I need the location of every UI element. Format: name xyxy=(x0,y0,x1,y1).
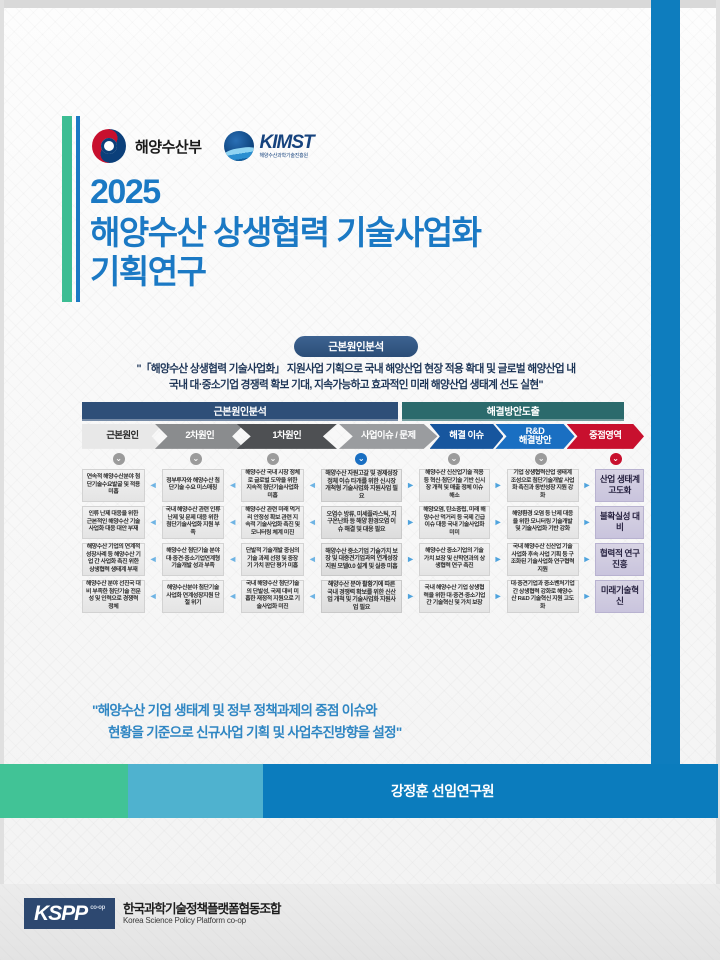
kspp-logo-text: KSPP xyxy=(34,903,87,924)
right-blue-accent-bar xyxy=(651,0,680,764)
arrow-left-icon: ◄ xyxy=(149,543,158,576)
cell-root-cause-1[interactable]: 연속적 해양수산분야 첨단기술수요발굴 및 적용 미흡 xyxy=(82,469,145,502)
arrow-left-icon: ◄ xyxy=(149,580,158,613)
diagram-lead-quote: "「해양수산 상생협력 기술사업화」 지원사업 기획으로 국내 해양산업 현장 … xyxy=(74,361,638,394)
cell-rnd-solution-1[interactable]: 기업 상생협력산업 생태계 조성으로 첨단기술개발 사업화 촉진과 동반성장 지… xyxy=(507,469,579,502)
column-solution-issue: 해양수산 신산업기술 적용 등 혁신·첨단기술 기반 신시장 개척 및 매출 정… xyxy=(419,469,489,613)
arrow-right-icon: ► xyxy=(583,543,592,576)
column-header-secondary-cause[interactable]: 2차원인 xyxy=(155,424,245,449)
arrow-left-icon: ◄ xyxy=(228,506,237,539)
chevron-down-circle-gray-icon: ⌄ xyxy=(267,453,279,465)
arrow-left-icon: ◄ xyxy=(149,506,158,539)
column-header-root-cause-label: 근본원인 xyxy=(104,431,140,441)
cell-focus-area-4[interactable]: 미래기술혁신 xyxy=(595,580,644,613)
chevron-down-circle-red-icon: ⌄ xyxy=(610,453,622,465)
conclusion-quote: "해양수산 기업 생태계 및 정부 정책과제의 중점 이슈와 현황을 기준으로 … xyxy=(92,700,612,743)
arrow-left-icon: ◄ xyxy=(228,543,237,576)
arrow-left-icon: ◄ xyxy=(149,469,158,502)
footer-org-text: 한국과학기술정책플랫폼협동조합 Korea Science Policy Pla… xyxy=(123,902,281,926)
diagram-matrix: 연속적 해양수산분야 첨단기술수요발굴 및 적용 미흡 인류 난제 대응을 위한… xyxy=(82,469,644,613)
column-header-solution-issue[interactable]: 해결 이슈 xyxy=(430,424,504,449)
arrow-column-6: ► ► ► ► xyxy=(583,469,592,613)
presenter-name: 강정훈 선임연구원 xyxy=(391,781,494,801)
title-accent-bar-blue xyxy=(76,116,80,302)
column-rnd-solution: 기업 상생협력산업 생태계 조성으로 첨단기술개발 사업화 촉진과 동반성장 지… xyxy=(507,469,579,613)
chevron-down-circle-gray-icon: ⌄ xyxy=(190,453,202,465)
icon-cell-7: ⌄ xyxy=(587,453,644,466)
column-header-rnd-solution[interactable]: R&D해결방안 xyxy=(495,424,574,449)
presenter-bar: 강정훈 선임연구원 xyxy=(0,764,718,818)
arrow-column-4: ► ► ► ► xyxy=(406,469,415,613)
agency-logo: KIMST 해양수산과학기술진흥원 xyxy=(224,131,314,161)
kspp-logo-mark: KSPP co-op xyxy=(24,898,115,929)
footer-org-ko: 한국과학기술정책플랫폼협동조합 xyxy=(123,902,281,916)
arrow-right-icon: ► xyxy=(494,469,503,502)
title-year: 2025 xyxy=(90,172,650,213)
column-header-root-cause[interactable]: 근본원인 xyxy=(82,424,163,449)
cell-solution-issue-3[interactable]: 해양수산 중소기업의 기술가치 보장 및 산학연과의 상생협력 연구 촉진 xyxy=(419,543,489,576)
cell-root-cause-3[interactable]: 해양수산 기업의 연계적 성장사례 등 해양수산 기업 간 사업화 촉진 위한 … xyxy=(82,543,145,576)
page-title: 2025 해양수산 상생협력 기술사업화 기획연구 xyxy=(90,172,650,292)
cell-focus-area-2[interactable]: 불확실성 대비 xyxy=(595,506,644,539)
column-header-rnd-solution-label: R&D해결방안 xyxy=(515,427,555,447)
frame-left-edge xyxy=(0,0,4,884)
band-solution-derivation: 해결방안도출 xyxy=(402,402,624,421)
cell-business-issue-2[interactable]: 오염수 방류, 미세플라스틱, 지구온난화 등 해양 환경오염 이슈 해결 및 … xyxy=(321,506,402,539)
icon-cell-1: ⌄ xyxy=(82,453,155,466)
cell-rnd-solution-3[interactable]: 국내 해양수산 신산업 기술사업화 후속 사업 기획 등 구조화된 기술사업화 … xyxy=(507,543,579,576)
frame-top-edge xyxy=(0,0,720,8)
diagram-badge-wrap: 근본원인분석 xyxy=(68,336,644,357)
taegeuk-icon xyxy=(92,129,126,163)
cell-solution-issue-1[interactable]: 해양수산 신산업기술 적용 등 혁신·첨단기술 기반 신시장 개척 및 매출 정… xyxy=(419,469,489,502)
cell-primary-cause-4[interactable]: 국내 해양수산 첨단기술의 단발성, 국제 대비 미흡한 재정적 지원으로 기술… xyxy=(241,580,304,613)
cell-solution-issue-2[interactable]: 해양오염, 탄소중립, 미래 해양수산 먹거리 등 국제 긴급 이슈 대응 국내… xyxy=(419,506,489,539)
arrow-right-icon: ► xyxy=(406,469,415,502)
column-header-focus-area-label: 중점영역 xyxy=(587,431,623,441)
column-focus-area: 산업 생태계 고도화 불확실성 대비 협력적 연구진흥 미래기술혁신 xyxy=(595,469,644,613)
footer-logo: KSPP co-op 한국과학기술정책플랫폼협동조합 Korea Science… xyxy=(24,898,281,929)
arrow-right-icon: ► xyxy=(494,580,503,613)
arrow-column-5: ► ► ► ► xyxy=(494,469,503,613)
lead-quote-line-1: "「해양수산 상생협력 기술사업화」 지원사업 기획으로 국내 해양산업 현장 … xyxy=(74,361,638,377)
column-primary-cause: 해양수산 국내 시장 정체로 글로벌 도약을 위한 지속적 첨단기술사업화 미흡… xyxy=(241,469,304,613)
agency-sublabel: 해양수산과학기술진흥원 xyxy=(260,154,314,159)
arrow-column-2: ◄ ◄ ◄ ◄ xyxy=(228,469,237,613)
column-header-secondary-cause-label: 2차원인 xyxy=(183,431,216,441)
conclusion-quote-line-1: "해양수산 기업 생태계 및 정부 정책과제의 중점 이슈와 xyxy=(92,703,377,718)
conclusion-quote-line-2: 현황을 기준으로 신규사업 기획 및 사업추진방향을 설정" xyxy=(92,722,612,744)
cell-business-issue-1[interactable]: 해양수산 자원고갈 및 경제성장 정체 이슈 타개를 위한 신시장개척형 기술사… xyxy=(321,469,402,502)
cell-business-issue-3[interactable]: 해양수산 중소기업 기술가치 보장 및 대중견기업과의 연계성장지원 모델0.0… xyxy=(321,543,402,576)
chevron-down-circle-gray-icon: ⌄ xyxy=(448,453,460,465)
arrow-left-icon: ◄ xyxy=(228,469,237,502)
arrow-left-icon: ◄ xyxy=(308,543,317,576)
cell-root-cause-4[interactable]: 해양수산 분야 선진국 대비 부족한 첨단기술 전문성 및 인력으로 경쟁력 정… xyxy=(82,580,145,613)
cell-rnd-solution-4[interactable]: 대·중견기업과 중소벤처기업 간 상생협력 강화로 해양수산 R&D 기술혁신 … xyxy=(507,580,579,613)
presenter-bar-green-segment xyxy=(0,764,128,818)
chevron-down-circle-gray-icon: ⌄ xyxy=(535,453,547,465)
arrow-left-icon: ◄ xyxy=(308,580,317,613)
kimst-wave-icon xyxy=(224,131,254,161)
title-line-2: 기획연구 xyxy=(90,252,650,292)
column-root-cause: 연속적 해양수산분야 첨단기술수요발굴 및 적용 미흡 인류 난제 대응을 위한… xyxy=(82,469,145,613)
cell-secondary-cause-1[interactable]: 정부투자와 해양수산 첨단기술 수요 미스매칭 xyxy=(162,469,225,502)
arrow-right-icon: ► xyxy=(583,580,592,613)
cell-root-cause-2[interactable]: 인류 난제 대응을 위한 근본적인 해양수산 기술사업화 대응 대안 부재 xyxy=(82,506,145,539)
presenter-bar-blue-segment: 강정훈 선임연구원 xyxy=(263,764,718,818)
column-business-issue: 해양수산 자원고갈 및 경제성장 정체 이슈 타개를 위한 신시장개척형 기술사… xyxy=(321,469,402,613)
lead-quote-line-2: 국내 대·중소기업 경쟁력 확보 기대, 지속가능하고 효과적인 미래 해양산업… xyxy=(74,377,638,393)
column-header-primary-cause-label: 1차원인 xyxy=(270,431,303,441)
band-root-cause-analysis: 근본원인분석 xyxy=(82,402,398,421)
title-accent-bar-green xyxy=(62,116,72,302)
cell-primary-cause-1[interactable]: 해양수산 국내 시장 정체로 글로벌 도약을 위한 지속적 첨단기술사업화 미흡 xyxy=(241,469,304,502)
icon-cell-4: ⌄ xyxy=(314,453,409,466)
chevron-down-circle-blue-icon: ⌄ xyxy=(355,453,367,465)
arrow-right-icon: ► xyxy=(406,506,415,539)
arrow-left-icon: ◄ xyxy=(308,506,317,539)
cell-secondary-cause-2[interactable]: 국내 해양수산 관련 인류 난제 및 문제 대응 위한 첨단기술사업화 지원 부… xyxy=(162,506,225,539)
cell-focus-area-3[interactable]: 협력적 연구진흥 xyxy=(595,543,644,576)
arrow-right-icon: ► xyxy=(406,543,415,576)
icon-cell-6: ⌄ xyxy=(499,453,583,466)
diagram-badge: 근본원인분석 xyxy=(294,336,418,357)
frame-right-edge xyxy=(716,0,720,884)
diagram-column-headers: 근본원인 2차원인 1차원인 사업이슈 / 문제 해결 이슈 R&D해결방안 중… xyxy=(82,424,644,449)
column-secondary-cause: 정부투자와 해양수산 첨단기술 수요 미스매칭 국내 해양수산 관련 인류 난제… xyxy=(162,469,225,613)
icon-cell-3: ⌄ xyxy=(236,453,309,466)
cell-primary-cause-2[interactable]: 해양수산 관련 미래 먹거리 안정성 확보 관련 지속적 기술사업화 촉진 및 … xyxy=(241,506,304,539)
chevron-down-circle-gray-icon: ⌄ xyxy=(113,453,125,465)
cell-focus-area-1[interactable]: 산업 생태계 고도화 xyxy=(595,469,644,502)
cell-secondary-cause-3[interactable]: 해양수산 첨단기술 분야 대·중견·중소기업연계형 기술개발 성과 부족 xyxy=(162,543,225,576)
presenter-bar-teal-segment xyxy=(128,764,263,818)
arrow-right-icon: ► xyxy=(583,469,592,502)
arrow-right-icon: ► xyxy=(406,580,415,613)
logo-row: 해양수산부 KIMST 해양수산과학기술진흥원 xyxy=(92,124,314,168)
cell-solution-issue-4[interactable]: 국내 해양수산 기업 상생협력을 위한 대·중견·중소기업 간 기술혁신 및 가… xyxy=(419,580,489,613)
agency-text-block: KIMST 해양수산과학기술진흥원 xyxy=(260,133,314,159)
cell-rnd-solution-2[interactable]: 해양환경 오염 등 난제 대응을 위한 모니터링 기술개발 및 기술사업화 기반… xyxy=(507,506,579,539)
footer-org-en: Korea Science Policy Platform co-op xyxy=(123,916,281,925)
cell-business-issue-4[interactable]: 해양수산 분야 활황기에 따른 국내 경쟁력 확보를 위한 신산업 개척 및 기… xyxy=(321,580,402,613)
ministry-label: 해양수산부 xyxy=(135,136,202,157)
arrow-column-1: ◄ ◄ ◄ ◄ xyxy=(149,469,158,613)
column-header-focus-area[interactable]: 중점영역 xyxy=(567,424,644,449)
icon-cell-5: ⌄ xyxy=(413,453,495,466)
icon-cell-2: ⌄ xyxy=(159,453,232,466)
cell-primary-cause-3[interactable]: 단발적 기술개발 중심의 기술 과제 선정 및 중장기 가치 판단 평가 미흡 xyxy=(241,543,304,576)
column-header-solution-issue-label: 해결 이슈 xyxy=(447,431,485,441)
title-line-1: 해양수산 상생협력 기술사업화 xyxy=(90,213,650,253)
arrow-column-3: ◄ ◄ ◄ ◄ xyxy=(308,469,317,613)
agency-label: KIMST xyxy=(260,133,314,152)
slide-root: 해양수산부 KIMST 해양수산과학기술진흥원 2025 해양수산 상생협력 기… xyxy=(0,0,720,960)
column-header-business-issue[interactable]: 사업이슈 / 문제 xyxy=(339,424,438,449)
root-cause-analysis-diagram: 근본원인분석 "「해양수산 상생협력 기술사업화」 지원사업 기획으로 국내 해… xyxy=(68,336,644,676)
column-header-primary-cause[interactable]: 1차원인 xyxy=(237,424,337,449)
ministry-logo: 해양수산부 xyxy=(92,129,202,163)
arrow-left-icon: ◄ xyxy=(308,469,317,502)
arrow-right-icon: ► xyxy=(583,506,592,539)
arrow-left-icon: ◄ xyxy=(228,580,237,613)
kspp-logo-coop: co-op xyxy=(90,905,105,911)
column-header-business-issue-label: 사업이슈 / 문제 xyxy=(359,431,418,441)
arrow-right-icon: ► xyxy=(494,506,503,539)
diagram-band-headers: 근본원인분석 해결방안도출 xyxy=(82,402,644,421)
diagram-column-icons: ⌄ ⌄ ⌄ ⌄ ⌄ ⌄ ⌄ xyxy=(82,453,644,466)
cell-secondary-cause-4[interactable]: 해양수산분야 첨단기술 사업화 연계성장지원 단절 위기 xyxy=(162,580,225,613)
arrow-right-icon: ► xyxy=(494,543,503,576)
